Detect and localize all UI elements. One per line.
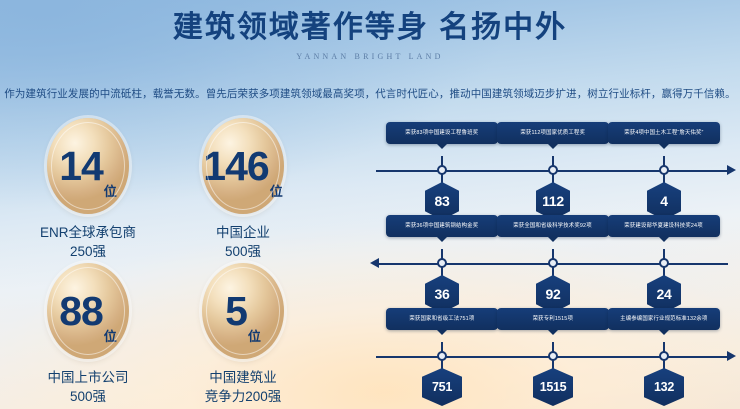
page-description: 作为建筑行业发展的中流砥柱，载誉无数。曾先后荣获多项建筑领域最高奖项，代言时代匠… [0,86,740,102]
arrow-right-icon [727,351,736,361]
award-label: 荣获专利1515项 [533,315,573,323]
award-card[interactable]: 荣获112项国家优质工程奖 [497,122,609,144]
timeline-node[interactable]: 荣获建设部华夏建设科技奖24项 24 [608,215,720,237]
stat-caption: 中国上市公司 500强 [8,368,168,406]
award-label: 荣获国家和省级工法751项 [409,315,474,323]
stat-card: 88 位 中国上市公司 500强 [8,263,168,406]
stat-card: 14 位 ENR全球承包商 250强 [8,118,168,261]
medal-badge: 146 位 [202,118,284,214]
stat-unit: 位 [104,181,117,200]
stat-caption: 中国企业 500强 [163,223,323,261]
stat-value: 88 [59,291,103,332]
timeline-row: 荣获36项中国建筑钢结构金奖 36 荣获全国和省级科学技术奖92项 92 荣获建… [372,215,734,301]
timeline-node[interactable]: 荣获83项中国建设工程鲁班奖 83 [386,122,498,144]
timeline-node[interactable]: 荣获专利1515项 1515 [497,308,609,330]
page-title: 建筑领域著作等身 名扬中外 [0,8,740,48]
award-label: 荣获36项中国建筑钢结构金奖 [406,222,479,230]
award-card[interactable]: 荣获4项中国土木工程“詹天佑奖” [608,122,720,144]
stat-caption-line1: 中国上市公司 [8,368,168,387]
award-card[interactable]: 主编参编国家行业规范标准132余项 [608,308,720,330]
timeline-group: 荣获83项中国建设工程鲁班奖 83 荣获112项国家优质工程奖 112 荣获4项… [372,122,734,404]
timeline-row: 荣获83项中国建设工程鲁班奖 83 荣获112项国家优质工程奖 112 荣获4项… [372,122,734,208]
stat-caption-line1: ENR全球承包商 [8,223,168,242]
timeline-node[interactable]: 荣获112项国家优质工程奖 112 [497,122,609,144]
award-card[interactable]: 荣获36项中国建筑钢结构金奖 [386,215,498,237]
award-label: 荣获83项中国建设工程鲁班奖 [406,129,479,137]
stat-value: 14 [59,146,103,187]
medal-badge: 5 位 [202,263,284,359]
timeline-node[interactable]: 荣获36项中国建筑钢结构金奖 36 [386,215,498,237]
medal-badge: 14 位 [47,118,129,214]
stat-card: 146 位 中国企业 500强 [163,118,323,261]
award-label: 主编参编国家行业规范标准132余项 [620,315,707,323]
award-label: 荣获112项国家优质工程奖 [521,129,586,137]
stat-caption-line2: 竞争力200强 [163,387,323,406]
timeline-node[interactable]: 荣获全国和省级科学技术奖92项 92 [497,215,609,237]
award-card[interactable]: 荣获83项中国建设工程鲁班奖 [386,122,498,144]
stat-unit: 位 [248,326,261,345]
timeline-row: 荣获国家和省级工法751项 751 荣获专利1515项 1515 主编参编国家行… [372,308,734,394]
stat-value: 146 [203,146,268,187]
stat-caption-line2: 250强 [8,242,168,261]
timeline-node[interactable]: 荣获4项中国土木工程“詹天佑奖” 4 [608,122,720,144]
count-badge: 132 [644,368,684,406]
award-label: 荣获全国和省级科学技术奖92项 [514,222,593,230]
page-subtitle-en: YANNAN BRIGHT LAND [0,52,740,61]
award-card[interactable]: 荣获全国和省级科学技术奖92项 [497,215,609,237]
header-block: 建筑领域著作等身 名扬中外 YANNAN BRIGHT LAND [0,8,740,61]
award-card[interactable]: 荣获国家和省级工法751项 [386,308,498,330]
medal-badge: 88 位 [47,263,129,359]
stat-unit: 位 [104,326,117,345]
stat-caption: ENR全球承包商 250强 [8,223,168,261]
stat-caption-line2: 500强 [163,242,323,261]
timeline-node[interactable]: 荣获国家和省级工法751项 751 [386,308,498,330]
stat-caption-line2: 500强 [8,387,168,406]
award-label: 荣获4项中国土木工程“詹天佑奖” [624,129,703,137]
count-badge: 751 [422,368,462,406]
stat-card: 5 位 中国建筑业 竞争力200强 [163,263,323,406]
count-badge: 1515 [533,368,573,406]
arrow-left-icon [370,258,379,268]
award-label: 荣获建设部华夏建设科技奖24项 [625,222,704,230]
stat-caption-line1: 中国企业 [163,223,323,242]
stat-unit: 位 [270,181,283,200]
award-card[interactable]: 荣获专利1515项 [497,308,609,330]
arrow-right-icon [727,165,736,175]
stat-caption: 中国建筑业 竞争力200强 [163,368,323,406]
timeline-node[interactable]: 主编参编国家行业规范标准132余项 132 [608,308,720,330]
slide-canvas: 建筑领域著作等身 名扬中外 YANNAN BRIGHT LAND 作为建筑行业发… [0,0,740,409]
stats-group: 14 位 ENR全球承包商 250强 146 位 中国企业 500强 88 位 [8,118,338,403]
stat-value: 5 [225,291,247,332]
stat-caption-line1: 中国建筑业 [163,368,323,387]
award-card[interactable]: 荣获建设部华夏建设科技奖24项 [608,215,720,237]
